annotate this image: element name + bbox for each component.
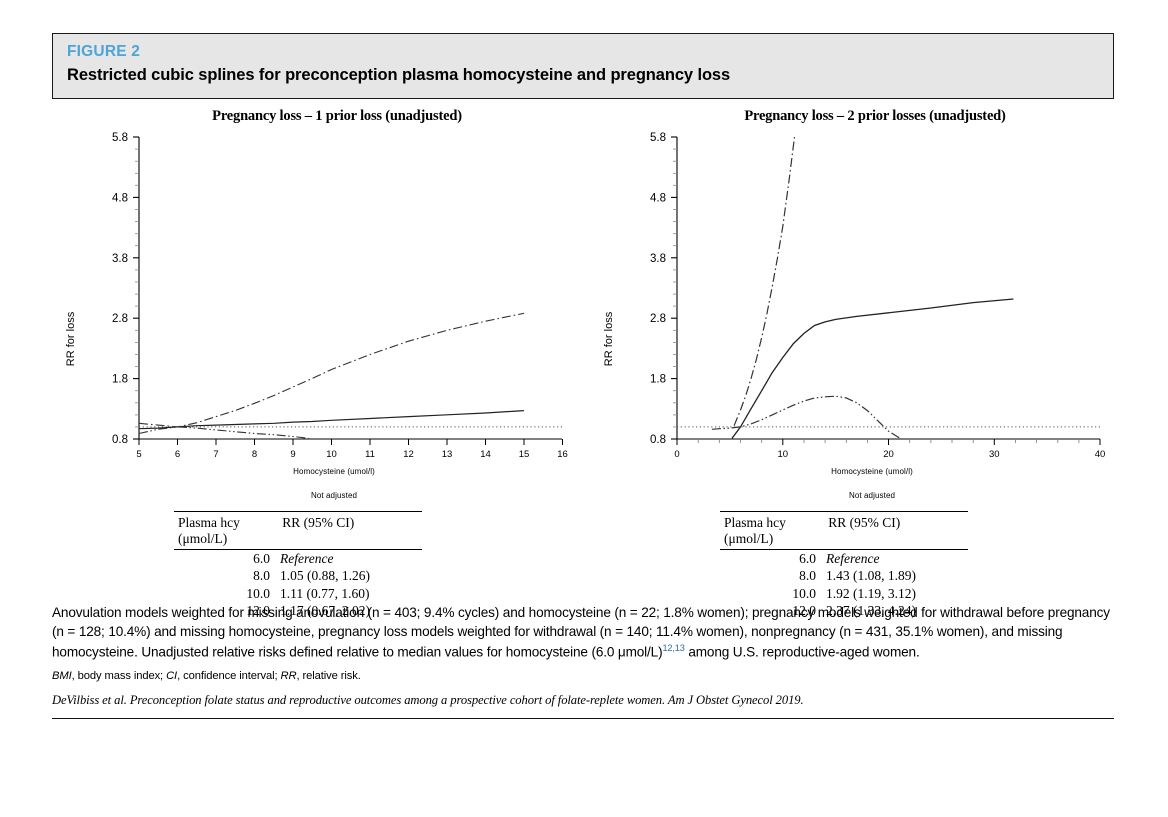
table-row: 10.0 1.11 (0.77, 1.60) bbox=[174, 585, 422, 602]
table-row: 6.0 Reference bbox=[174, 550, 422, 567]
table-row: 8.0 1.05 (0.88, 1.26) bbox=[174, 567, 422, 584]
svg-text:16: 16 bbox=[557, 449, 568, 460]
left-series-estimate bbox=[139, 411, 524, 429]
right-series-upper-ci bbox=[734, 137, 794, 426]
svg-text:4.8: 4.8 bbox=[650, 192, 666, 204]
right-x-ticks: 0 10 20 30 40 bbox=[674, 439, 1105, 460]
table-row: 6.0 Reference bbox=[720, 550, 968, 567]
right-th-rr: RR (95% CI) bbox=[828, 515, 968, 547]
svg-text:40: 40 bbox=[1095, 449, 1106, 460]
footnote-citation-superscript: 12,13 bbox=[662, 643, 684, 653]
abbr-rr: RR bbox=[281, 670, 297, 682]
figure-container: FIGURE 2 Restricted cubic splines for pr… bbox=[52, 33, 1114, 793]
svg-text:3.8: 3.8 bbox=[112, 253, 128, 265]
table-row: 8.0 1.43 (1.08, 1.89) bbox=[720, 567, 968, 584]
svg-text:14: 14 bbox=[480, 449, 491, 460]
svg-text:5: 5 bbox=[136, 449, 141, 460]
svg-text:5.8: 5.8 bbox=[112, 132, 128, 144]
right-cell-rr-1: 1.43 (1.08, 1.89) bbox=[826, 567, 968, 584]
table-row: 10.0 1.92 (1.19, 3.12) bbox=[720, 585, 968, 602]
svg-text:2.8: 2.8 bbox=[112, 313, 128, 325]
svg-text:15: 15 bbox=[519, 449, 530, 460]
right-x-axis-label: Homocysteine (umol/l) bbox=[590, 467, 1114, 476]
abbr-bmi-def: , body mass index; bbox=[72, 670, 166, 682]
svg-text:30: 30 bbox=[989, 449, 1000, 460]
left-cell-hcy-1: 8.0 bbox=[174, 567, 280, 584]
svg-text:9: 9 bbox=[290, 449, 295, 460]
left-y-axis-label: RR for loss bbox=[65, 311, 77, 366]
left-x-axis-label: Homocysteine (umol/l) bbox=[52, 467, 576, 476]
abbr-ci: CI bbox=[166, 670, 177, 682]
footnotes: Anovulation models weighted for missing … bbox=[52, 603, 1114, 719]
right-th-hcy-line2: (μmol/L) bbox=[724, 531, 828, 547]
svg-text:13: 13 bbox=[442, 449, 453, 460]
right-cell-hcy-0: 6.0 bbox=[720, 550, 826, 567]
right-cell-hcy-1: 8.0 bbox=[720, 567, 826, 584]
figure-number: FIGURE 2 bbox=[67, 42, 1113, 63]
svg-text:1.8: 1.8 bbox=[112, 374, 128, 386]
abbr-bmi: BMI bbox=[52, 670, 72, 682]
left-th-hcy-line1: Plasma hcy bbox=[178, 515, 240, 530]
right-y-minor-ticks bbox=[673, 149, 677, 427]
footnote-main: Anovulation models weighted for missing … bbox=[52, 603, 1114, 661]
left-x-ticks: 5 6 7 8 9 10 11 12 13 14 15 16 bbox=[136, 439, 567, 460]
left-series-lower-ci bbox=[139, 427, 309, 438]
svg-text:10: 10 bbox=[326, 449, 337, 460]
svg-text:4.8: 4.8 bbox=[112, 192, 128, 204]
svg-text:11: 11 bbox=[365, 449, 375, 460]
left-cell-hcy-2: 10.0 bbox=[174, 585, 280, 602]
panel-left-plot: RR for loss 5.8 4.8 3.8 2.8 bbox=[52, 99, 576, 499]
svg-text:0: 0 bbox=[674, 449, 679, 460]
footnote-abbreviations: BMI, body mass index; CI, confidence int… bbox=[52, 670, 1114, 682]
right-th-hcy-line1: Plasma hcy bbox=[724, 515, 786, 530]
panel-right: Pregnancy loss – 2 prior losses (unadjus… bbox=[590, 99, 1114, 599]
right-subtitle: Not adjusted bbox=[590, 491, 1114, 500]
left-th-hcy-line2: (μmol/L) bbox=[178, 531, 282, 547]
svg-text:1.8: 1.8 bbox=[650, 374, 666, 386]
svg-text:6: 6 bbox=[175, 449, 180, 460]
right-table-header: Plasma hcy (μmol/L) RR (95% CI) bbox=[720, 512, 968, 549]
right-y-axis-label: RR for loss bbox=[603, 311, 615, 366]
svg-text:2.8: 2.8 bbox=[650, 313, 666, 325]
svg-text:7: 7 bbox=[213, 449, 218, 460]
panel-right-plot: RR for loss 5.8 4.8 3.8 2.8 1.8 bbox=[590, 99, 1114, 499]
footnote-main-text-end: among U.S. reproductive-aged women. bbox=[685, 644, 920, 659]
left-table-header: Plasma hcy (μmol/L) RR (95% CI) bbox=[174, 512, 422, 549]
left-cell-hcy-0: 6.0 bbox=[174, 550, 280, 567]
svg-text:3.8: 3.8 bbox=[650, 253, 666, 265]
left-y-ticks: 5.8 4.8 3.8 2.8 1.8 0.8 bbox=[112, 132, 139, 446]
figure-title: Restricted cubic splines for preconcepti… bbox=[67, 64, 1113, 87]
left-subtitle: Not adjusted bbox=[52, 491, 576, 500]
panel-left: Pregnancy loss – 1 prior loss (unadjuste… bbox=[52, 99, 576, 599]
footnote-citation: DeVilbiss et al. Preconception folate st… bbox=[52, 693, 1114, 708]
left-th-rr: RR (95% CI) bbox=[282, 515, 422, 547]
abbr-rr-def: , relative risk. bbox=[296, 670, 360, 682]
left-cell-rr-0: Reference bbox=[280, 550, 422, 567]
left-cell-rr-1: 1.05 (0.88, 1.26) bbox=[280, 567, 422, 584]
svg-text:5.8: 5.8 bbox=[650, 132, 666, 144]
svg-text:8: 8 bbox=[252, 449, 257, 460]
svg-text:0.8: 0.8 bbox=[650, 434, 666, 446]
right-series-estimate bbox=[732, 299, 1013, 438]
abbr-ci-def: , confidence interval; bbox=[177, 670, 280, 682]
svg-text:20: 20 bbox=[883, 449, 894, 460]
right-cell-rr-0: Reference bbox=[826, 550, 968, 567]
bottom-rule bbox=[52, 718, 1114, 719]
footnote-main-text: Anovulation models weighted for missing … bbox=[52, 605, 1110, 659]
left-chart-svg: RR for loss 5.8 4.8 3.8 2.8 bbox=[52, 99, 576, 499]
left-series-upper-ci bbox=[139, 313, 524, 427]
svg-text:10: 10 bbox=[778, 449, 789, 460]
left-y-minor-ticks bbox=[135, 149, 139, 427]
svg-text:0.8: 0.8 bbox=[112, 434, 128, 446]
right-cell-rr-2: 1.92 (1.19, 3.12) bbox=[826, 585, 968, 602]
figure-header: FIGURE 2 Restricted cubic splines for pr… bbox=[52, 33, 1114, 99]
svg-text:12: 12 bbox=[403, 449, 414, 460]
right-y-ticks: 5.8 4.8 3.8 2.8 1.8 0.8 bbox=[650, 132, 677, 446]
panels-container: Pregnancy loss – 1 prior loss (unadjuste… bbox=[52, 99, 1114, 599]
right-chart-svg: RR for loss 5.8 4.8 3.8 2.8 1.8 bbox=[590, 99, 1114, 499]
right-series-lower-ci bbox=[712, 396, 901, 439]
right-cell-hcy-2: 10.0 bbox=[720, 585, 826, 602]
left-cell-rr-2: 1.11 (0.77, 1.60) bbox=[280, 585, 422, 602]
